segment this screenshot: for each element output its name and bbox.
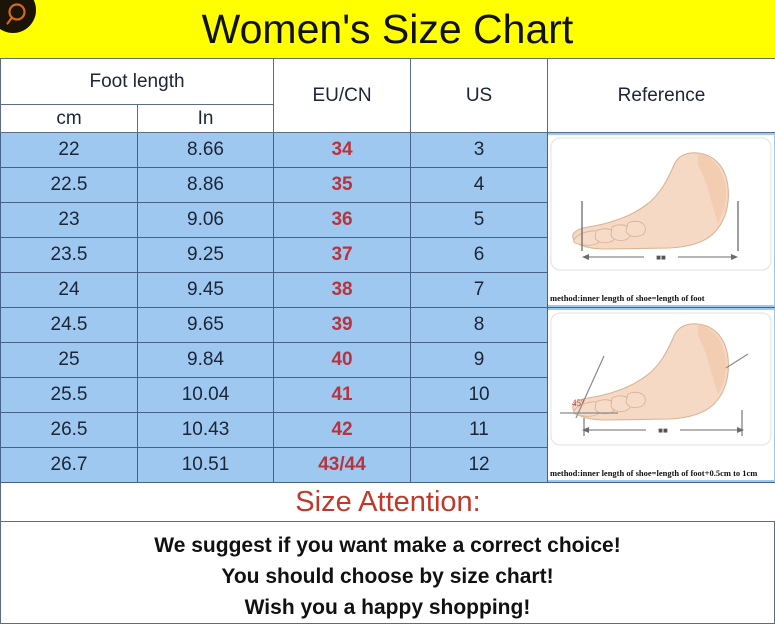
cell-eu: 35 xyxy=(274,168,411,203)
attention-line-2: You should choose by size chart! xyxy=(1,561,774,592)
page-title: Women's Size Chart xyxy=(202,9,574,50)
table-row: 22 8.66 34 3 xyxy=(1,133,775,168)
cell-us: 11 xyxy=(411,413,548,448)
cell-in: 8.86 xyxy=(138,168,274,203)
table-row: 24.5 9.65 39 8 xyxy=(1,308,775,343)
cell-eu: 38 xyxy=(274,273,411,308)
header-foot-length: Foot length xyxy=(1,59,274,105)
size-chart-page: Women's Size Chart Foot length EU/CN US … xyxy=(0,0,775,620)
angle-label: 45° xyxy=(572,398,585,408)
attention-line-3: Wish you a happy shopping! xyxy=(1,592,774,623)
cell-us: 6 xyxy=(411,238,548,273)
cell-cm: 22 xyxy=(1,133,138,168)
header-reference: Reference xyxy=(548,59,775,133)
cell-cm: 24.5 xyxy=(1,308,138,343)
reference-image-two: 45° ■■ method:inner length of shoe=lengt… xyxy=(548,308,775,483)
attention-line-1: We suggest if you want make a correct ch… xyxy=(1,530,774,561)
foot-diagram-angled-icon: 45° ■■ xyxy=(548,310,774,458)
cell-eu: 41 xyxy=(274,378,411,413)
header-eu-cn: EU/CN xyxy=(274,59,411,133)
cell-eu: 40 xyxy=(274,343,411,378)
cell-cm: 22.5 xyxy=(1,168,138,203)
cell-in: 9.45 xyxy=(138,273,274,308)
size-attention-row: Size Attention: xyxy=(1,483,775,522)
cell-cm: 23.5 xyxy=(1,238,138,273)
cell-us: 9 xyxy=(411,343,548,378)
cell-us: 3 xyxy=(411,133,548,168)
cell-eu: 43/44 xyxy=(274,448,411,483)
cell-cm: 26.5 xyxy=(1,413,138,448)
size-chart-table: Foot length EU/CN US Reference cm In 22 … xyxy=(0,58,775,522)
cell-eu: 42 xyxy=(274,413,411,448)
cell-us: 5 xyxy=(411,203,548,238)
title-banner: Women's Size Chart xyxy=(0,0,775,58)
search-icon xyxy=(0,0,36,33)
cell-us: 10 xyxy=(411,378,548,413)
header-us: US xyxy=(411,59,548,133)
cell-cm: 25 xyxy=(1,343,138,378)
cell-eu: 37 xyxy=(274,238,411,273)
cell-in: 9.25 xyxy=(138,238,274,273)
reference-caption-one: method:inner length of shoe=length of fo… xyxy=(550,293,772,304)
cell-in: 10.51 xyxy=(138,448,274,483)
cell-cm: 25.5 xyxy=(1,378,138,413)
cell-us: 7 xyxy=(411,273,548,308)
cell-eu: 36 xyxy=(274,203,411,238)
size-attention-heading: Size Attention: xyxy=(295,486,480,518)
svg-text:■■: ■■ xyxy=(658,426,668,435)
reference-caption-two: method:inner length of shoe=length of fo… xyxy=(550,468,772,479)
header-in: In xyxy=(138,105,274,133)
cell-eu: 39 xyxy=(274,308,411,343)
cell-in: 8.66 xyxy=(138,133,274,168)
cell-us: 8 xyxy=(411,308,548,343)
cell-cm: 24 xyxy=(1,273,138,308)
cell-in: 9.65 xyxy=(138,308,274,343)
table-header-row-top: Foot length EU/CN US Reference xyxy=(1,59,775,105)
attention-lines: We suggest if you want make a correct ch… xyxy=(0,522,775,624)
reference-image-one: ■■ method:inner length of shoe=length of… xyxy=(548,133,775,308)
cell-us: 4 xyxy=(411,168,548,203)
cell-in: 9.84 xyxy=(138,343,274,378)
cell-cm: 26.7 xyxy=(1,448,138,483)
size-attention-cell: Size Attention: xyxy=(1,483,775,522)
header-cm: cm xyxy=(1,105,138,133)
cell-in: 9.06 xyxy=(138,203,274,238)
foot-diagram-icon: ■■ xyxy=(548,135,774,283)
svg-text:■■: ■■ xyxy=(656,253,666,262)
cell-cm: 23 xyxy=(1,203,138,238)
cell-us: 12 xyxy=(411,448,548,483)
cell-eu: 34 xyxy=(274,133,411,168)
cell-in: 10.43 xyxy=(138,413,274,448)
cell-in: 10.04 xyxy=(138,378,274,413)
